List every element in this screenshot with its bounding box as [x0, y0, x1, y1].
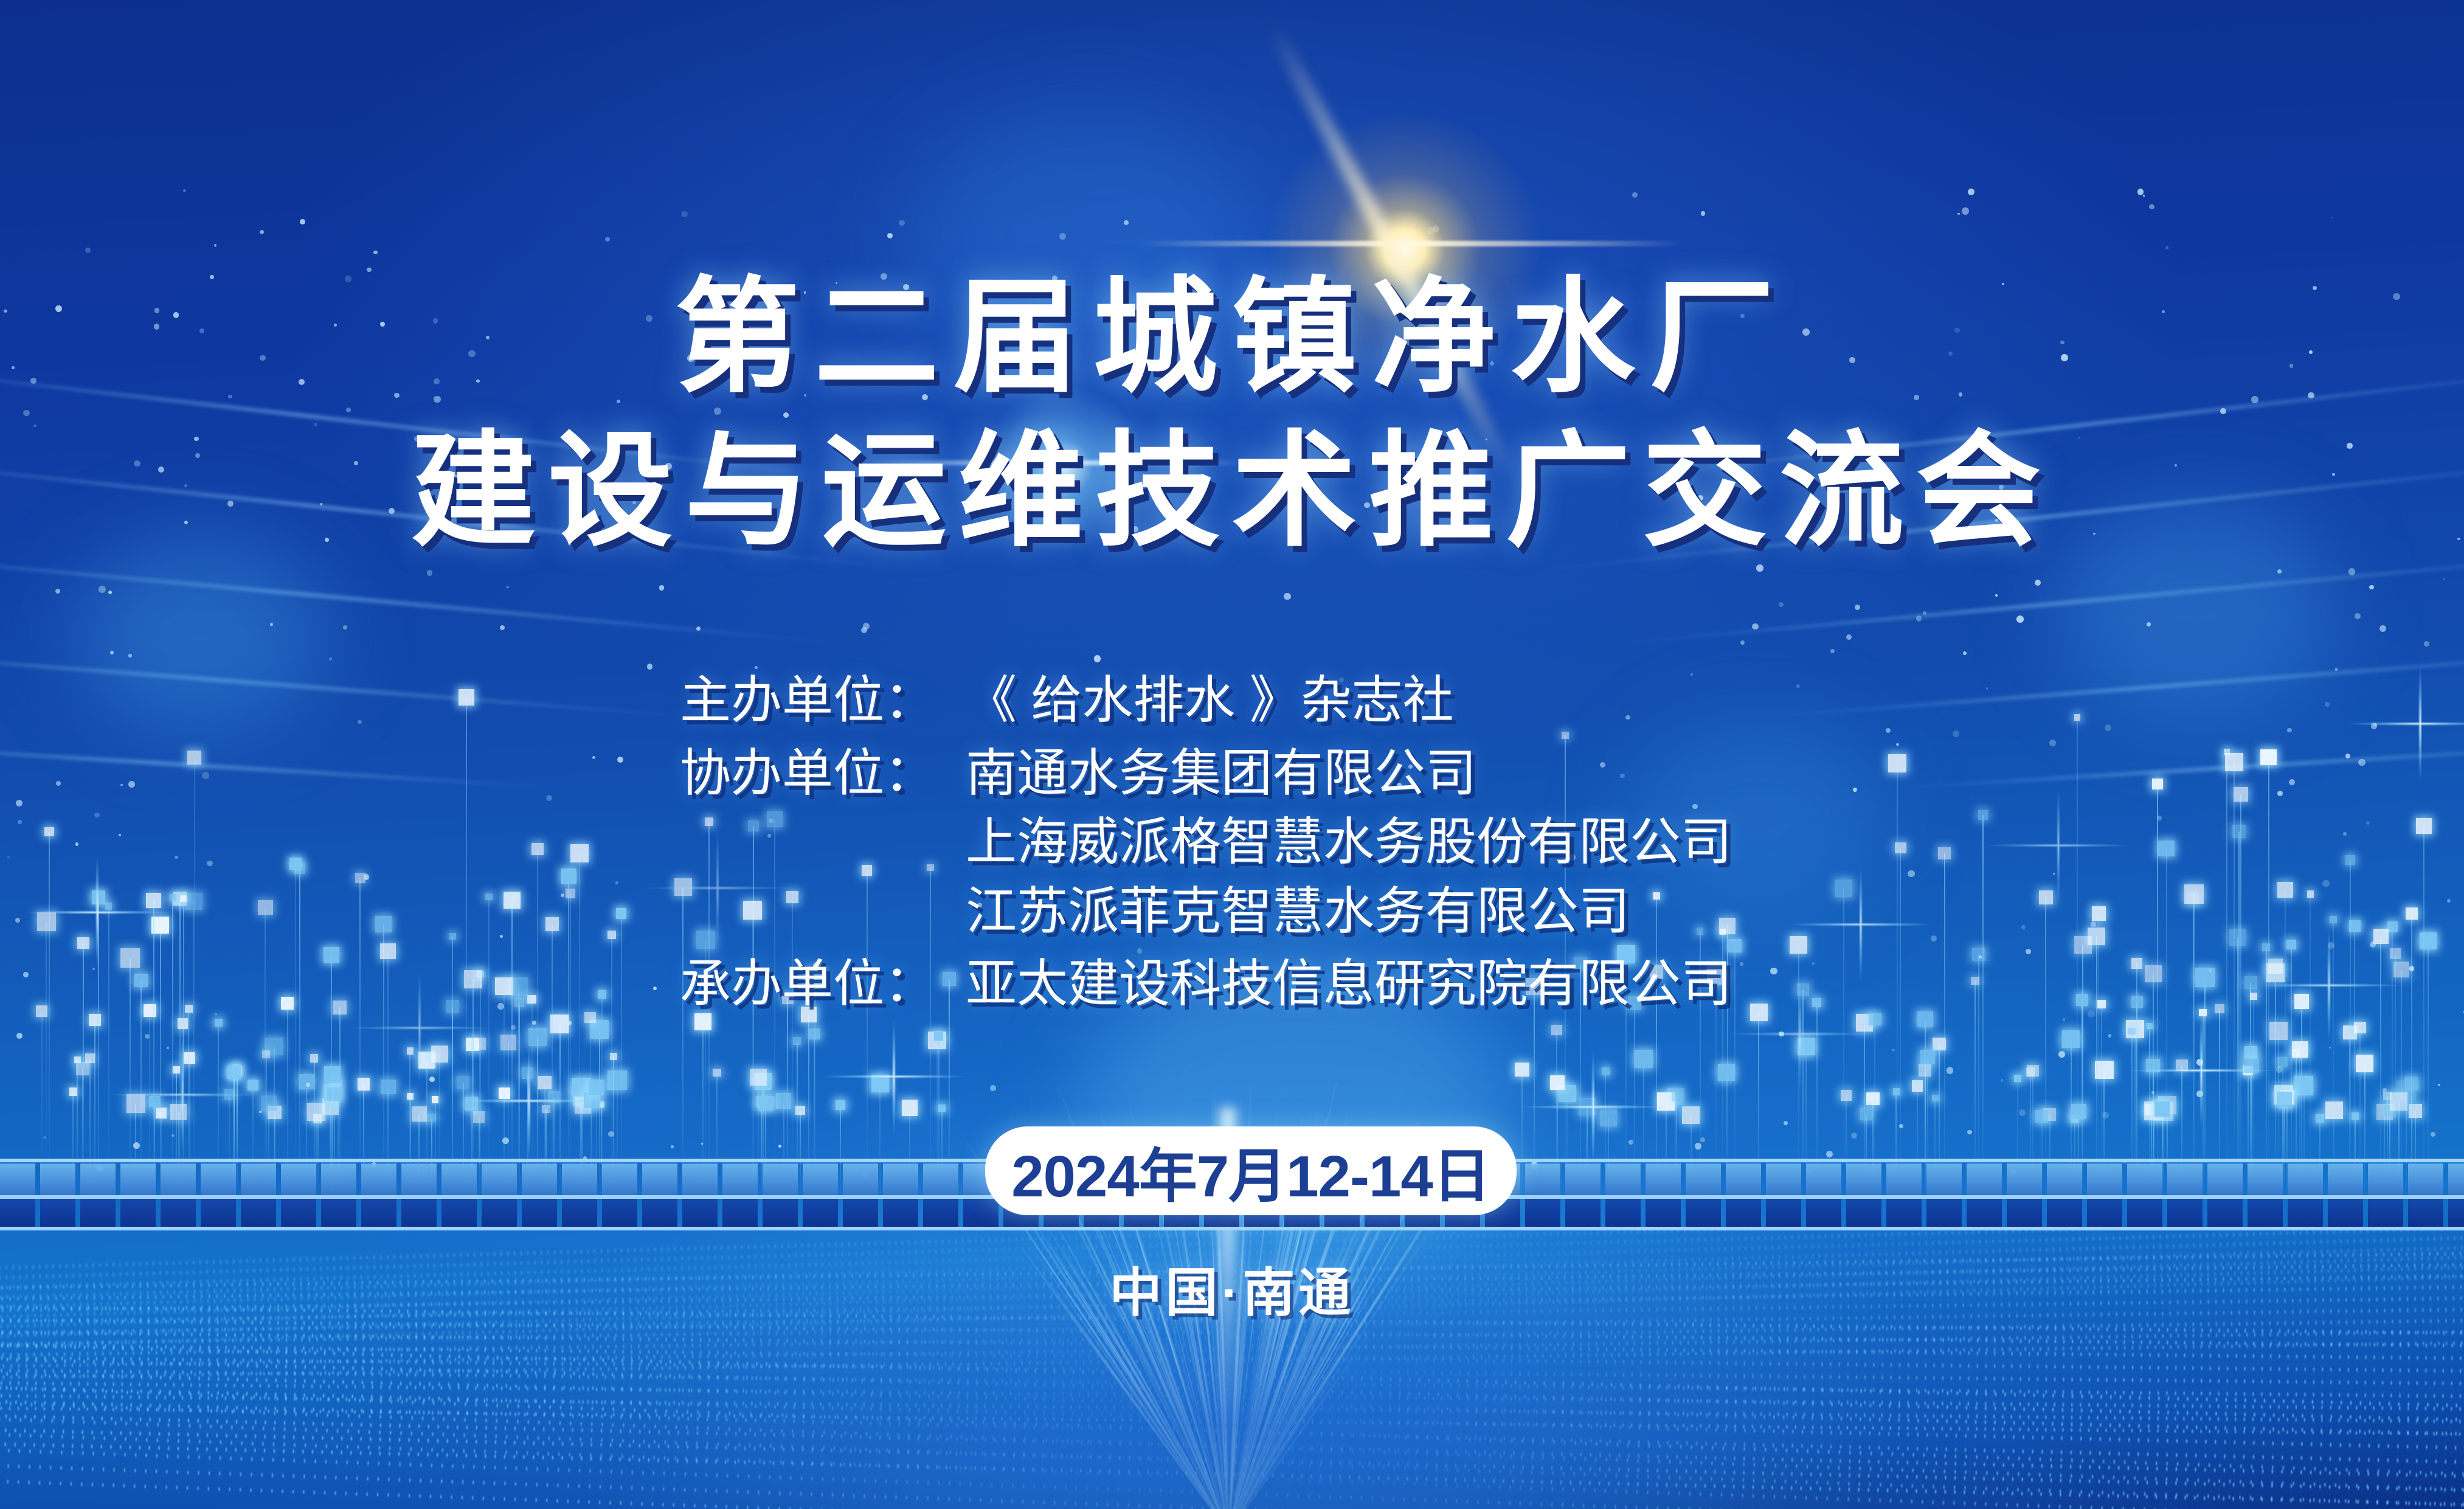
organizer-values: 亚太建设科技信息研究院有限公司	[966, 951, 2078, 1021]
page-title-line-2: 建设与运维技术推广交流会	[0, 429, 2464, 553]
organizer-values: 南通水务集团有限公司上海威派格智慧水务股份有限公司江苏派菲克智慧水务有限公司	[966, 741, 2078, 948]
organizer-label: 承办单位：	[680, 951, 966, 1017]
location-label: 中国·南通	[0, 1250, 2464, 1326]
organizer-values: 《 给水排水 》杂志社	[966, 668, 2078, 737]
conference-poster: 第二届城镇净水厂 建设与运维技术推广交流会 主办单位：《 给水排水 》杂志社协办…	[0, 0, 2464, 1509]
organizer-list: 主办单位：《 给水排水 》杂志社协办单位：南通水务集团有限公司上海威派格智慧水务…	[680, 668, 2078, 1024]
organizer-row: 协办单位：南通水务集团有限公司上海威派格智慧水务股份有限公司江苏派菲克智慧水务有…	[680, 741, 2078, 948]
page-title-line-1: 第二届城镇净水厂	[0, 275, 2464, 400]
organizer-label: 主办单位：	[680, 668, 966, 734]
organizer-value: 《 给水排水 》杂志社	[966, 668, 2078, 734]
organizer-label: 协办单位：	[680, 741, 966, 807]
date-badge-label: 2024年7月12-14日	[1011, 1129, 1490, 1213]
organizer-value: 亚太建设科技信息研究院有限公司	[966, 951, 2078, 1017]
organizer-row: 主办单位：《 给水排水 》杂志社	[680, 668, 2078, 737]
organizer-value: 江苏派菲克智慧水务有限公司	[966, 879, 2078, 945]
organizer-value: 上海威派格智慧水务股份有限公司	[966, 810, 2078, 875]
date-badge: 2024年7月12-14日	[985, 1126, 1517, 1215]
organizer-value: 南通水务集团有限公司	[966, 741, 2078, 807]
organizer-row: 承办单位：亚太建设科技信息研究院有限公司	[680, 951, 2078, 1021]
